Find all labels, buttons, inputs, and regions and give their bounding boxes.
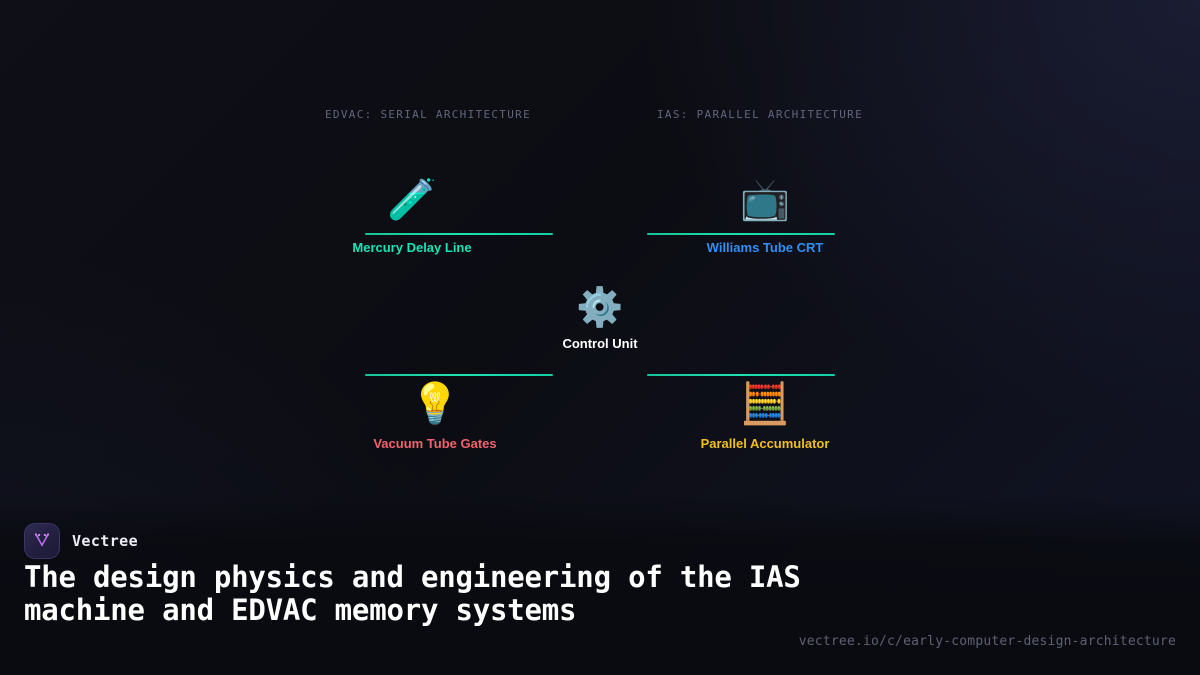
node-label-williams-tube-crt: Williams Tube CRT xyxy=(707,240,824,255)
node-label-vacuum-tube-gates: Vacuum Tube Gates xyxy=(373,436,496,451)
node-label-control-unit: Control Unit xyxy=(562,336,637,351)
architecture-diagram: EDVAC: SERIAL ARCHITECTURE IAS: PARALLEL… xyxy=(0,0,1200,500)
node-control-unit[interactable]: ⚙️ Control Unit xyxy=(490,284,710,351)
test-tube-icon: 🧪 xyxy=(387,176,437,224)
brand[interactable]: Vectree xyxy=(24,523,138,559)
node-label-parallel-accumulator: Parallel Accumulator xyxy=(701,436,830,451)
column-header-edvac: EDVAC: SERIAL ARCHITECTURE xyxy=(325,108,531,121)
node-label-mercury-delay-line: Mercury Delay Line xyxy=(352,240,471,255)
slide-canvas: EDVAC: SERIAL ARCHITECTURE IAS: PARALLEL… xyxy=(0,0,1200,675)
node-vacuum-tube-gates[interactable]: 💡 Vacuum Tube Gates xyxy=(325,378,545,451)
page-title: The design physics and engineering of th… xyxy=(24,561,824,626)
footer-bar: Vectree The design physics and engineeri… xyxy=(0,495,1200,675)
light-bulb-icon: 💡 xyxy=(410,380,460,428)
abacus-icon: 🧮 xyxy=(740,380,790,428)
source-url: vectree.io/c/early-computer-design-archi… xyxy=(799,634,1176,649)
node-parallel-accumulator[interactable]: 🧮 Parallel Accumulator xyxy=(655,378,875,451)
television-icon: 📺 xyxy=(740,176,790,224)
connector-rail-bottom-right xyxy=(647,374,835,376)
node-williams-tube-crt[interactable]: 📺 Williams Tube CRT xyxy=(655,176,875,255)
node-mercury-delay-line[interactable]: 🧪 Mercury Delay Line xyxy=(302,176,522,255)
vectree-branch-logo xyxy=(24,523,60,559)
column-header-ias: IAS: PARALLEL ARCHITECTURE xyxy=(657,108,863,121)
brand-name: Vectree xyxy=(72,532,138,550)
gear-icon: ⚙️ xyxy=(576,284,623,330)
connector-rail-bottom-left xyxy=(365,374,553,376)
